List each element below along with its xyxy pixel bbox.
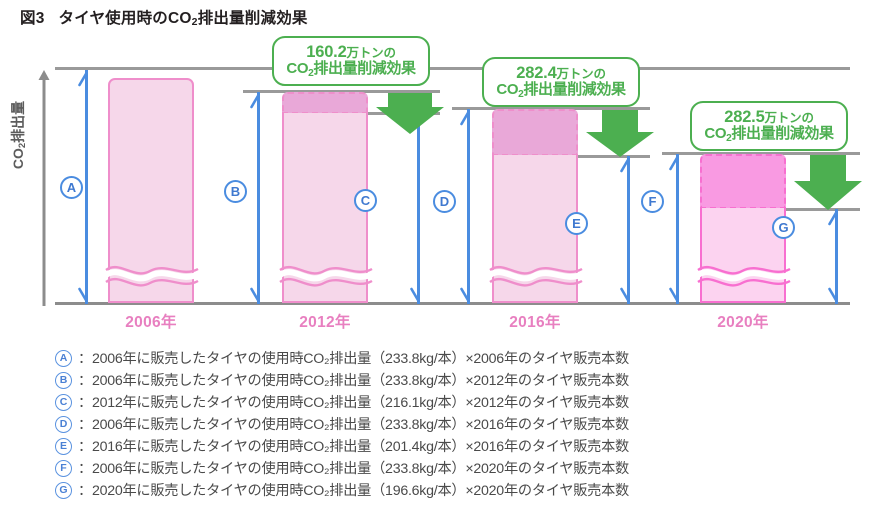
marker-f: F bbox=[641, 190, 664, 213]
callout-2012-line2: CO2排出量削減効果 bbox=[284, 61, 418, 78]
bar-2016 bbox=[492, 155, 578, 303]
callout-2016-line2: CO2排出量削減効果 bbox=[494, 82, 628, 99]
x-label-2020: 2020年 bbox=[685, 310, 801, 332]
callout-2012: 160.2万トンの CO2排出量削減効果 bbox=[272, 36, 430, 86]
measure-line-f bbox=[669, 154, 685, 304]
callout-2020-value: 282.5 bbox=[724, 108, 764, 126]
marker-e: E bbox=[565, 212, 588, 235]
x-label-2016: 2016年 bbox=[477, 310, 593, 332]
legend-row-f: F ：2006年に販売したタイヤの使用時CO₂排出量（233.8kg/本）×20… bbox=[0, 458, 870, 480]
measure-line-d bbox=[460, 109, 476, 304]
callout-2016-value: 282.4 bbox=[516, 64, 556, 82]
gridline-top-2006 bbox=[55, 67, 850, 70]
legend: A ：2006年に販売したタイヤの使用時CO₂排出量（233.8kg/本）×20… bbox=[0, 348, 870, 502]
legend-marker-a: A bbox=[55, 350, 72, 367]
x-label-2006: 2006年 bbox=[93, 310, 209, 332]
legend-row-b: B ：2006年に販売したタイヤの使用時CO₂排出量（233.8kg/本）×20… bbox=[0, 370, 870, 392]
callout-2012-unit: 万トンの bbox=[347, 46, 396, 60]
legend-row-c: C ：2012年に販売したタイヤの使用時CO₂排出量（216.1kg/本）×20… bbox=[0, 392, 870, 414]
legend-marker-c: C bbox=[55, 394, 72, 411]
measure-line-e bbox=[620, 156, 636, 304]
marker-b: B bbox=[224, 180, 247, 203]
marker-g: G bbox=[772, 216, 795, 239]
callout-2020: 282.5万トンの CO2排出量削減効果 bbox=[690, 101, 848, 151]
legend-row-d: D ：2006年に販売したタイヤの使用時CO₂排出量（233.8kg/本）×20… bbox=[0, 414, 870, 436]
callout-2016-unit: 万トンの bbox=[557, 67, 606, 81]
legend-marker-e: E bbox=[55, 438, 72, 455]
legend-text-g: ：2020年に販売したタイヤの使用時CO₂排出量（196.6kg/本）×2020… bbox=[78, 480, 629, 500]
measure-line-g bbox=[828, 209, 844, 304]
bar-2012-reduction-cap bbox=[282, 92, 368, 114]
measure-line-b bbox=[250, 92, 266, 304]
legend-marker-g: G bbox=[55, 482, 72, 499]
legend-text-f: ：2006年に販売したタイヤの使用時CO₂排出量（233.8kg/本）×2020… bbox=[78, 458, 629, 478]
reduction-arrow-2016 bbox=[585, 110, 655, 158]
legend-row-e: E ：2016年に販売したタイヤの使用時CO₂排出量（201.4kg/本）×20… bbox=[0, 436, 870, 458]
chart-plot-area: CO2排出量 A bbox=[0, 0, 870, 345]
x-label-2012: 2012年 bbox=[267, 310, 383, 332]
legend-marker-f: F bbox=[55, 460, 72, 477]
measure-line-c bbox=[410, 113, 426, 304]
marker-d: D bbox=[433, 190, 456, 213]
y-axis-label: CO2排出量 bbox=[8, 65, 28, 205]
callout-2020-unit: 万トンの bbox=[765, 111, 814, 125]
bar-2020-reduction-cap bbox=[700, 154, 786, 209]
marker-c: C bbox=[354, 189, 377, 212]
reduction-arrow-2020 bbox=[793, 155, 863, 211]
callout-2016: 282.4万トンの CO2排出量削減効果 bbox=[482, 57, 640, 107]
marker-a: A bbox=[60, 176, 83, 199]
legend-marker-d: D bbox=[55, 416, 72, 433]
callout-2020-line2: CO2排出量削減効果 bbox=[702, 126, 836, 143]
y-axis-arrow bbox=[38, 68, 50, 306]
bar-2016-reduction-cap bbox=[492, 109, 578, 156]
legend-text-e: ：2016年に販売したタイヤの使用時CO₂排出量（201.4kg/本）×2016… bbox=[78, 436, 629, 456]
bar-2006 bbox=[108, 78, 194, 303]
legend-text-d: ：2006年に販売したタイヤの使用時CO₂排出量（233.8kg/本）×2016… bbox=[78, 414, 629, 434]
bar-2012 bbox=[282, 113, 368, 303]
legend-text-a: ：2006年に販売したタイヤの使用時CO₂排出量（233.8kg/本）×2006… bbox=[78, 348, 629, 368]
callout-2012-value: 160.2 bbox=[306, 43, 346, 61]
legend-marker-b: B bbox=[55, 372, 72, 389]
legend-row-g: G ：2020年に販売したタイヤの使用時CO₂排出量（196.6kg/本）×20… bbox=[0, 480, 870, 502]
legend-text-c: ：2012年に販売したタイヤの使用時CO₂排出量（216.1kg/本）×2012… bbox=[78, 392, 629, 412]
legend-row-a: A ：2006年に販売したタイヤの使用時CO₂排出量（233.8kg/本）×20… bbox=[0, 348, 870, 370]
reduction-arrow-2012 bbox=[375, 93, 445, 135]
legend-text-b: ：2006年に販売したタイヤの使用時CO₂排出量（233.8kg/本）×2012… bbox=[78, 370, 629, 390]
